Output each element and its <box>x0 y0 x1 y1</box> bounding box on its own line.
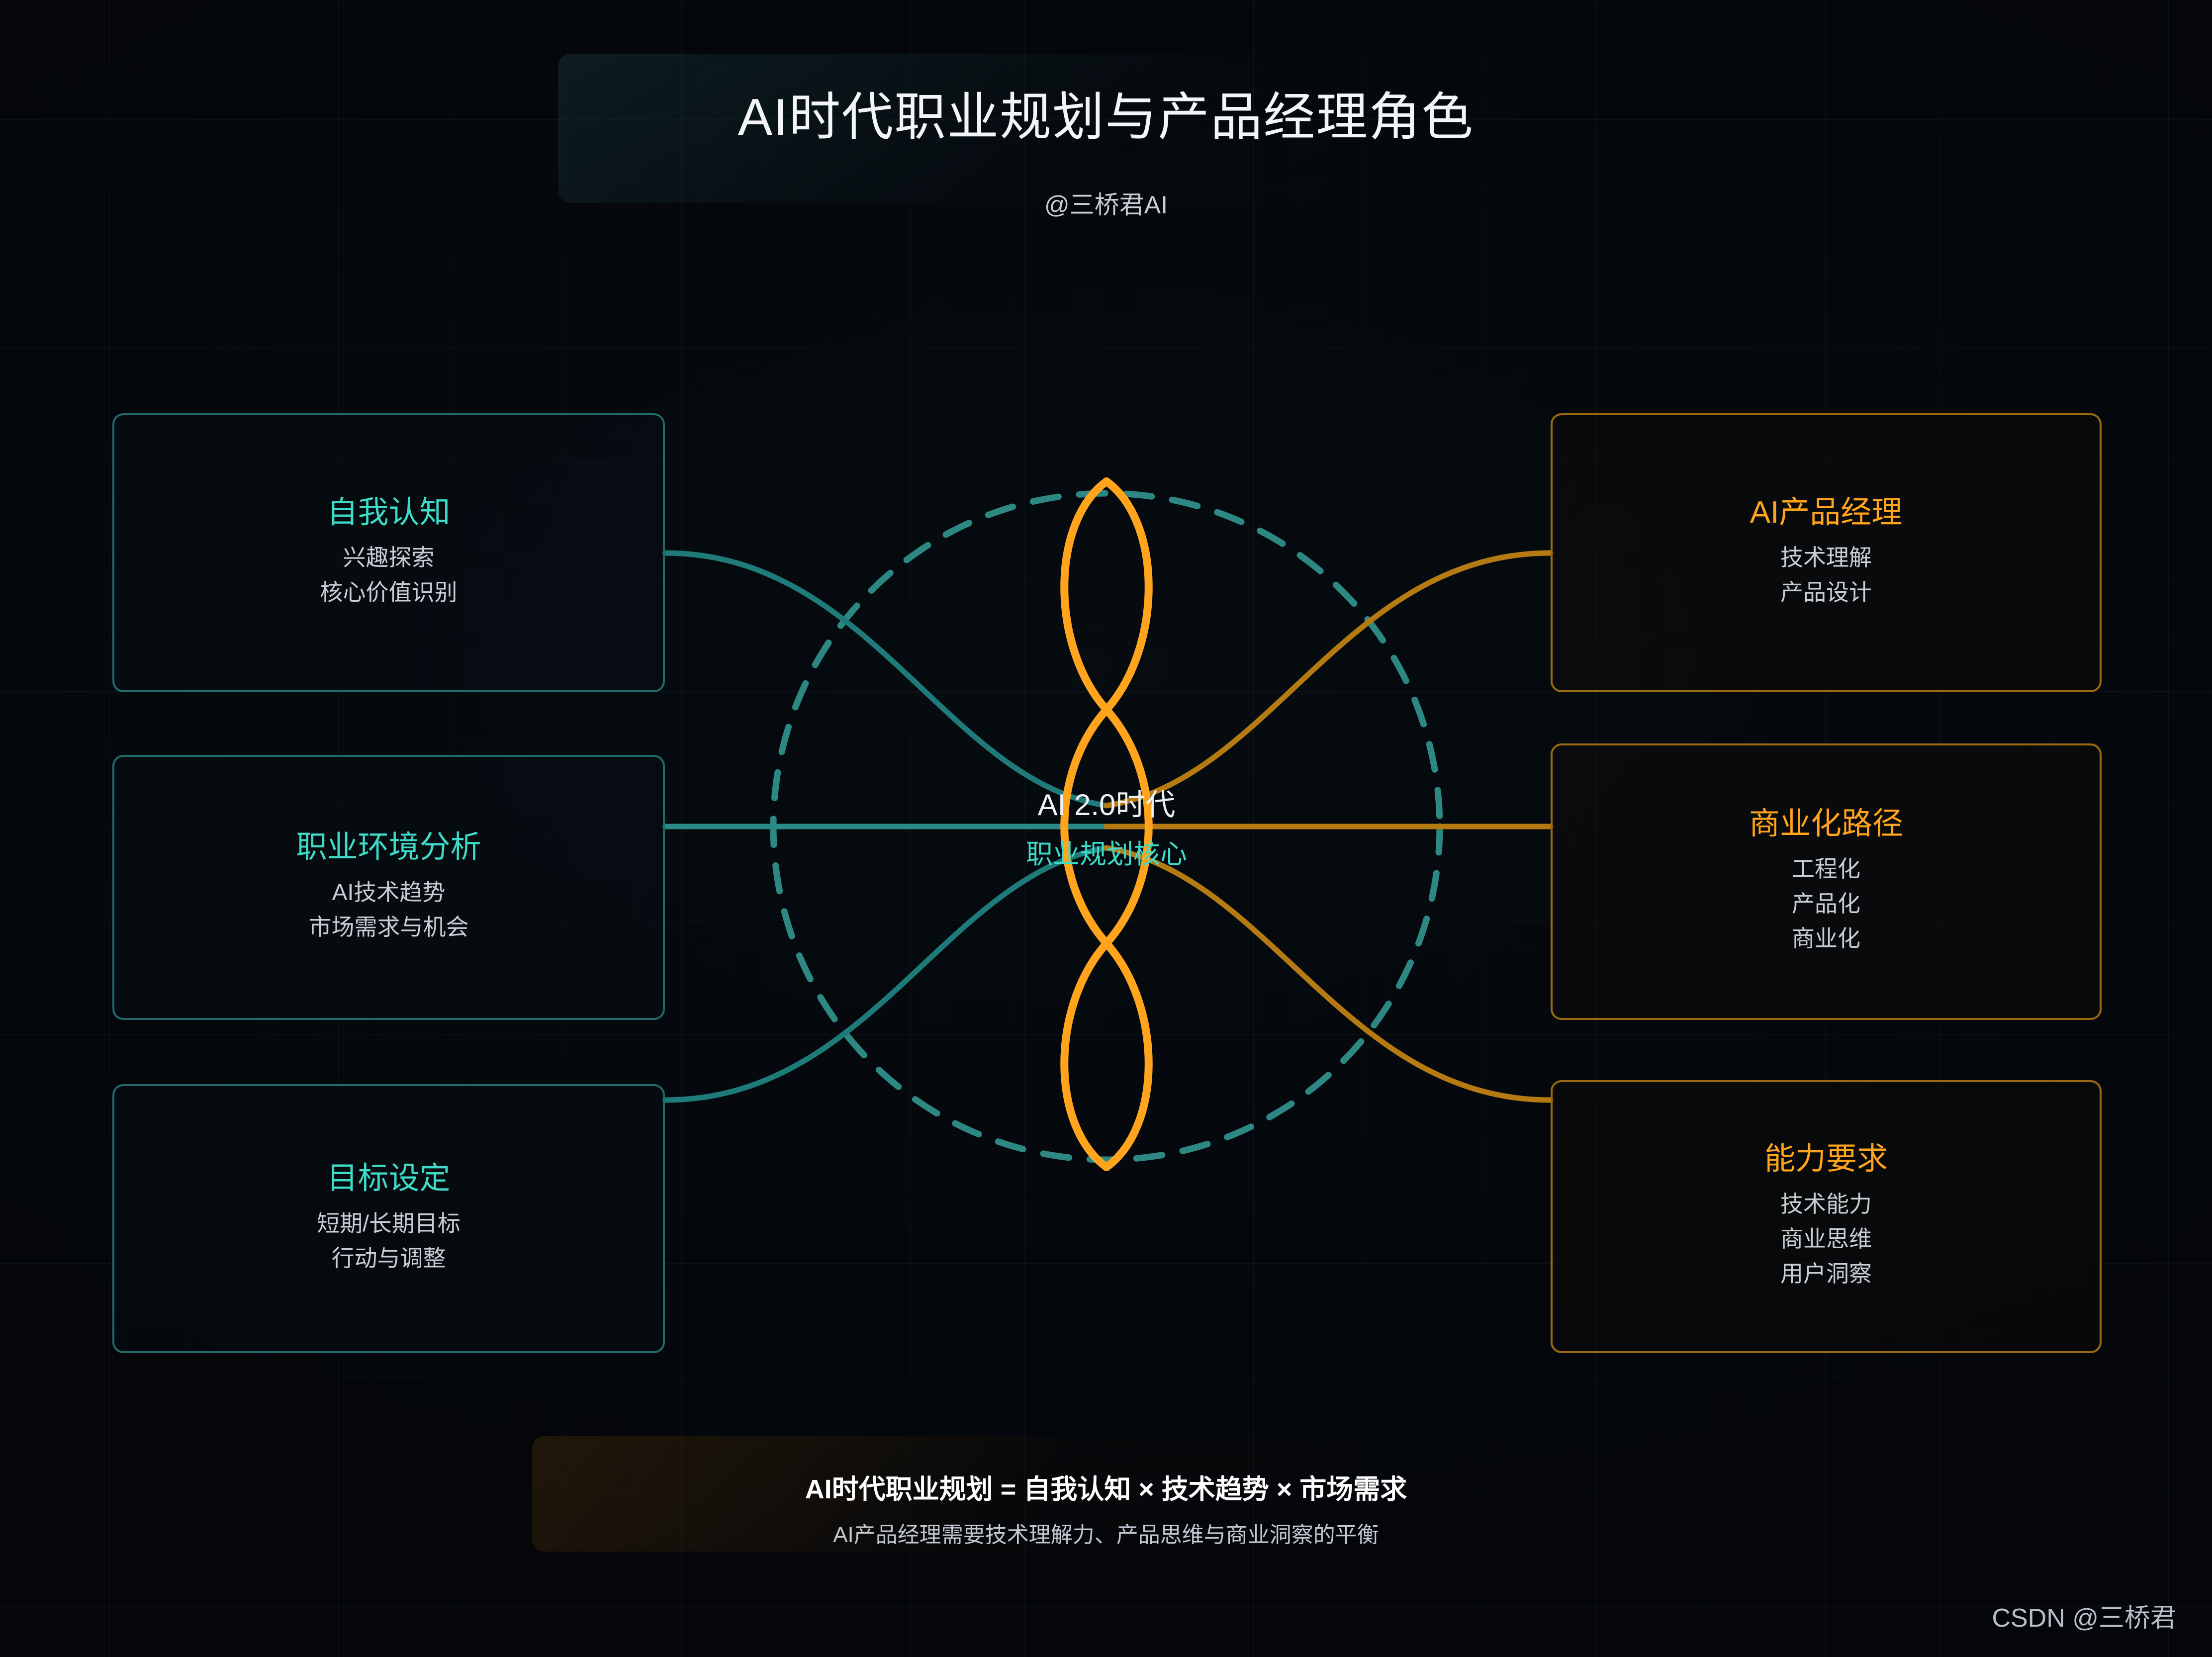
link-right-bottom <box>1106 848 1551 1100</box>
card-item: AI技术趋势 <box>332 875 445 910</box>
card-item: 工程化 <box>1792 852 1860 887</box>
card-item: 产品化 <box>1792 887 1860 921</box>
card-item: 用户洞察 <box>1780 1257 1872 1291</box>
card-career-environment[interactable]: 职业环境分析 AI技术趋势 市场需求与机会 <box>112 755 665 1020</box>
link-right-top <box>1106 553 1551 806</box>
card-item: 短期/长期目标 <box>317 1206 461 1241</box>
card-item: 行动与调整 <box>332 1241 446 1276</box>
card-title: AI产品经理 <box>1750 496 1903 530</box>
card-item: 商业化 <box>1792 921 1860 956</box>
card-title: 自我认知 <box>327 496 450 530</box>
card-item: 核心价值识别 <box>320 575 458 610</box>
card-capability-requirements[interactable]: 能力要求 技术能力 商业思维 用户洞察 <box>1551 1080 2102 1353</box>
card-item: 兴趣探索 <box>343 541 435 575</box>
card-item: 技术理解 <box>1780 541 1872 575</box>
watermark: CSDN @三桥君 <box>1992 1597 2176 1634</box>
card-item: 商业思维 <box>1780 1222 1872 1257</box>
card-title: 能力要求 <box>1764 1142 1888 1176</box>
formula-text: AI时代职业规划 = 自我认知 × 技术趋势 × 市场需求 <box>448 1467 1764 1506</box>
formula-note: AI产品经理需要技术理解力、产品思维与商业洞察的平衡 <box>448 1517 1764 1549</box>
core-label: AI 2.0时代 职业规划核心 <box>908 781 1305 871</box>
card-ai-product-manager[interactable]: AI产品经理 技术理解 产品设计 <box>1551 413 2102 692</box>
card-self-awareness[interactable]: 自我认知 兴趣探索 核心价值识别 <box>112 413 665 692</box>
card-item: 市场需求与机会 <box>309 910 469 945</box>
card-item: 产品设计 <box>1780 575 1872 610</box>
diagram-canvas: AI时代职业规划与产品经理角色 @三桥君AI 自我认知 兴趣探索 核心价值识别 … <box>0 0 2212 1657</box>
core-label-sub: 职业规划核心 <box>908 832 1305 871</box>
card-title: 目标设定 <box>327 1162 450 1196</box>
link-left-top <box>665 553 1106 806</box>
card-goal-setting[interactable]: 目标设定 短期/长期目标 行动与调整 <box>112 1084 665 1353</box>
link-left-bottom <box>665 848 1106 1100</box>
card-title: 商业化路径 <box>1749 807 1903 841</box>
card-commercialization-path[interactable]: 商业化路径 工程化 产品化 商业化 <box>1551 743 2102 1020</box>
card-item: 技术能力 <box>1780 1187 1872 1222</box>
page-title: AI时代职业规划与产品经理角色 <box>0 75 2212 150</box>
core-label-main: AI 2.0时代 <box>908 781 1305 824</box>
card-title: 职业环境分析 <box>296 830 481 864</box>
page-subtitle: @三桥君AI <box>0 185 2212 221</box>
